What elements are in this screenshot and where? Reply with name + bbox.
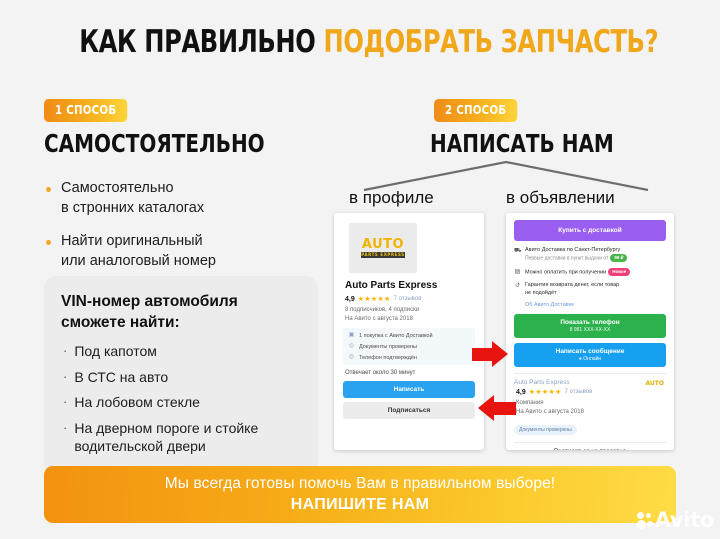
trust-badge-2: Документы проверены <box>359 344 417 350</box>
list-item: · На лобовом стекле <box>61 393 301 411</box>
list-item: ◎ Документы проверены <box>348 343 470 350</box>
trust-badge-3: Телефон подтверждён <box>359 355 417 361</box>
write-message-button[interactable]: Написать <box>343 381 475 398</box>
list-item: · В СТС на авто <box>61 368 301 386</box>
bullet-dash-icon: · <box>63 393 67 411</box>
list-item: · Под капотом <box>61 342 301 360</box>
trust-badge-list: ▣ 1 покупка с Авито Доставкой ◎ Документ… <box>343 328 475 365</box>
list-item: ◎ Телефон подтверждён <box>348 354 470 361</box>
page-title: КАК ПРАВИЛЬНО ПОДОБРАТЬ ЗАПЧАСТЬ? <box>79 24 641 60</box>
seller-logo: AUTO <box>645 380 664 387</box>
trust-badge-1: 1 покупка с Авито Доставкой <box>359 333 433 339</box>
subscribe-seller-button[interactable]: Подписаться на продавца <box>514 442 666 450</box>
seller-since: На Авито с августа 2018 <box>516 409 666 415</box>
way1-badge: 1 СПОСОБ <box>44 99 127 122</box>
list-item: Самостоятельнов стронних каталогах <box>44 178 314 218</box>
buy-with-delivery-button[interactable]: Купить с доставкой <box>514 220 666 241</box>
check-circle-icon: ◎ <box>348 343 355 350</box>
seller-docs-tag: Документы проверены <box>514 425 577 435</box>
star-rating-icon: ★★★★★ <box>358 295 391 303</box>
bullet-dash-icon: · <box>63 368 67 386</box>
shop-logo-text: AUTO PARTS EXPRESS <box>361 238 405 258</box>
poster-canvas: КАК ПРАВИЛЬНО ПОДОБРАТЬ ЗАПЧАСТЬ? 1 СПОС… <box>0 0 720 539</box>
seller-name[interactable]: Auto Parts Express <box>514 379 666 386</box>
delivery-row-1-text: Авито Доставка по Санкт-Петербургу <box>525 247 620 253</box>
vin-item-4: На дверном пороге и стойкеводительской д… <box>74 419 258 456</box>
page-title-dark: КАК ПРАВИЛЬНО <box>79 24 315 60</box>
bullet-dash-icon: · <box>63 342 67 360</box>
avito-dots-icon <box>637 512 653 529</box>
bullet-dot-icon <box>46 187 51 192</box>
cta-banner: Мы всегда готовы помочь Вам в правильном… <box>44 466 676 523</box>
return-arrow-icon: ↺ <box>514 282 521 290</box>
seller-rating-value: 4,9 <box>516 389 526 396</box>
shop-logo: AUTO PARTS EXPRESS <box>349 223 417 273</box>
bullet-dash-icon: · <box>63 419 67 437</box>
online-status: ● Онлайн <box>514 356 666 362</box>
member-since: На Авито с августа 2018 <box>345 316 475 322</box>
list-item: Найти оригинальныйили аналоговый номер <box>44 231 314 271</box>
profile-screenshot-card: AUTO PARTS EXPRESS Auto Parts Express 4,… <box>334 213 484 450</box>
vin-item-1: Под капотом <box>74 342 157 360</box>
answer-time: Отвечает около 30 минут <box>345 370 475 376</box>
list-item: ⛟ Авито Доставка по Санкт-Петербургу Пер… <box>514 247 666 263</box>
list-item: ↺ Гарантия возврата денег, если товарне … <box>514 282 666 297</box>
shop-logo-main: AUTO <box>362 237 404 252</box>
about-delivery-link[interactable]: Об Авито Доставке <box>525 302 666 308</box>
list-item: ▣ 1 покупка с Авито Доставкой <box>348 332 470 339</box>
subscribe-button[interactable]: Подписаться <box>343 402 475 419</box>
delivery-row-3-text: Гарантия возврата денег, если товарне по… <box>525 282 619 297</box>
star-rating-icon: ★★★★★ <box>529 388 562 396</box>
way2-heading: НАПИСАТЬ НАМ <box>430 129 614 158</box>
cta-line-1: Мы всегда готовы помочь Вам в правильном… <box>165 475 555 493</box>
seller-rating-row: 4,9 ★★★★★ 7 отзывов <box>516 388 666 396</box>
show-phone-button[interactable]: Показать телефон 8 981 XXX-XX-XX <box>514 314 666 338</box>
seller-reviews-link[interactable]: 7 отзывов <box>565 389 593 395</box>
subscribers-count: 8 подписчиков, 4 подписки <box>345 307 475 313</box>
vin-info-card: VIN-номер автомобилясможете найти: · Под… <box>44 276 318 474</box>
list-item: ▤ Можно оплатить при полученииНовое <box>514 268 666 277</box>
avito-watermark: Avito <box>637 510 714 531</box>
page-title-gold: ПОДОБРАТЬ ЗАПЧАСТЬ? <box>323 24 658 60</box>
list-item: · На дверном пороге и стойкеводительской… <box>61 419 301 456</box>
shop-name: Auto Parts Express <box>345 280 475 291</box>
way1-bullet-2: Найти оригинальныйили аналоговый номер <box>61 231 216 271</box>
shop-logo-sub: PARTS EXPRESS <box>361 252 405 258</box>
rating-value: 4,9 <box>345 296 355 303</box>
subhead-listing: в объявлении <box>506 188 615 208</box>
write-message-label: Написать сообщение <box>514 348 666 355</box>
truck-icon: ⛟ <box>514 247 521 255</box>
avito-wordmark: Avito <box>655 510 714 531</box>
write-message-button[interactable]: Написать сообщение ● Онлайн <box>514 343 666 367</box>
way1-bullet-1: Самостоятельнов стронних каталогах <box>61 178 204 218</box>
seller-block: AUTO Auto Parts Express 4,9 ★★★★★ 7 отзы… <box>514 373 666 450</box>
cta-line-2: НАПИШИТЕ НАМ <box>291 496 429 514</box>
new-badge-pill: Новое <box>608 268 630 276</box>
delivery-row-1-sub: Первые доставки в пункт выдачи от <box>525 256 608 262</box>
way2-badge: 2 СПОСОБ <box>434 99 517 122</box>
delivery-price-pill: 99 ₽ <box>610 254 627 262</box>
wallet-icon: ▤ <box>514 268 521 276</box>
seller-type: Компания <box>516 400 666 406</box>
phone-number: 8 981 XXX-XX-XX <box>514 327 666 333</box>
show-phone-label: Показать телефон <box>514 319 666 326</box>
vin-card-title: VIN-номер автомобилясможете найти: <box>61 292 301 333</box>
bullet-dot-icon <box>46 240 51 245</box>
reviews-link[interactable]: 7 отзывов <box>394 296 422 302</box>
vin-item-2: В СТС на авто <box>74 368 168 386</box>
way1-heading: САМОСТОЯТЕЛЬНО <box>44 129 265 158</box>
rating-row: 4,9 ★★★★★ 7 отзывов <box>345 295 475 303</box>
subhead-profile: в профиле <box>349 188 434 208</box>
vin-item-3: На лобовом стекле <box>74 393 200 411</box>
way1-bullet-list: Самостоятельнов стронних каталогах Найти… <box>44 178 314 284</box>
listing-screenshot-card: Купить с доставкой ⛟ Авито Доставка по С… <box>506 213 674 450</box>
delivery-box-icon: ▣ <box>348 332 355 339</box>
delivery-row-2-text: Можно оплатить при получении <box>525 270 606 276</box>
check-circle-icon: ◎ <box>348 354 355 361</box>
